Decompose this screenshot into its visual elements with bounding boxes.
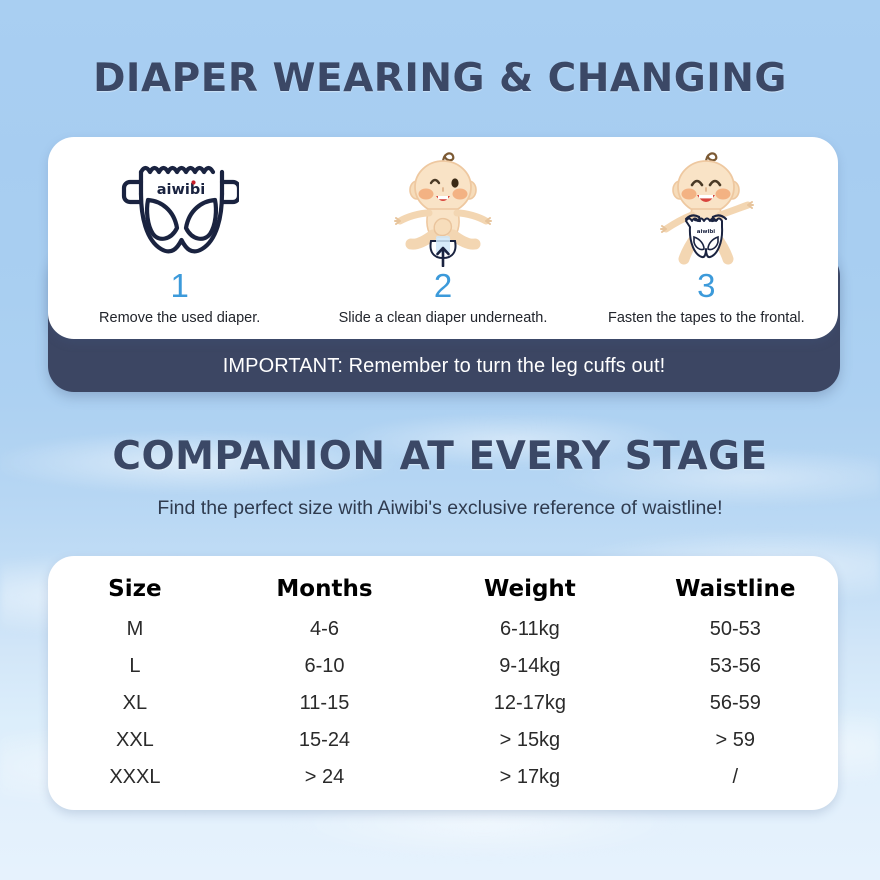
cell-waistline: 56-59 xyxy=(633,685,838,722)
column-header-size: Size xyxy=(48,570,222,611)
steps-card: aiwibi 1 Remove the used diaper. xyxy=(48,137,838,339)
svg-text:aiwibi: aiwibi xyxy=(697,229,716,235)
baby-fasten-tapes-icon: aiwibi xyxy=(575,145,838,267)
cell-weight: 6-11kg xyxy=(427,611,632,648)
column-header-weight: Weight xyxy=(427,570,632,611)
step-1-number: 1 xyxy=(170,269,188,302)
table-row: XXXL > 24 > 17kg / xyxy=(48,759,838,796)
step-1: aiwibi 1 Remove the used diaper. xyxy=(48,137,311,339)
step-3: aiwibi 3 Fasten the tapes to the frontal… xyxy=(575,137,838,339)
table-row: L 6-10 9-14kg 53-56 xyxy=(48,648,838,685)
size-table: Size Months Weight Waistline M 4-6 6-11k… xyxy=(48,570,838,796)
table-row: M 4-6 6-11kg 50-53 xyxy=(48,611,838,648)
cell-months: 6-10 xyxy=(222,648,427,685)
cell-waistline: / xyxy=(633,759,838,796)
step-3-caption: Fasten the tapes to the frontal. xyxy=(608,310,805,326)
cell-weight: 12-17kg xyxy=(427,685,632,722)
table-row: XXL 15-24 > 15kg > 59 xyxy=(48,722,838,759)
baby-slide-diaper-icon xyxy=(311,145,574,267)
important-banner-text: IMPORTANT: Remember to turn the leg cuff… xyxy=(48,355,840,378)
cell-size: M xyxy=(48,611,222,648)
cell-size: L xyxy=(48,648,222,685)
table-header-row: Size Months Weight Waistline xyxy=(48,570,838,611)
page-title: DIAPER WEARING & CHANGING xyxy=(0,56,880,101)
cell-weight: 9-14kg xyxy=(427,648,632,685)
size-table-card: Size Months Weight Waistline M 4-6 6-11k… xyxy=(48,556,838,810)
step-2-caption: Slide a clean diaper underneath. xyxy=(339,310,548,326)
table-row: XL 11-15 12-17kg 56-59 xyxy=(48,685,838,722)
step-2: 2 Slide a clean diaper underneath. xyxy=(311,137,574,339)
page-root: DIAPER WEARING & CHANGING IMPORTANT: Rem… xyxy=(0,0,880,880)
cell-months: > 24 xyxy=(222,759,427,796)
cell-weight: > 17kg xyxy=(427,759,632,796)
step-1-caption: Remove the used diaper. xyxy=(99,310,260,326)
cell-waistline: > 59 xyxy=(633,722,838,759)
cell-size: XL xyxy=(48,685,222,722)
cell-months: 15-24 xyxy=(222,722,427,759)
diaper-outline-icon: aiwibi xyxy=(48,145,311,267)
cell-months: 4-6 xyxy=(222,611,427,648)
step-3-number: 3 xyxy=(697,269,715,302)
svg-text:aiwibi: aiwibi xyxy=(156,182,204,198)
stage-title: COMPANION AT EVERY STAGE xyxy=(0,434,880,479)
cell-size: XXL xyxy=(48,722,222,759)
stage-subtitle: Find the perfect size with Aiwibi's excl… xyxy=(0,497,880,520)
cell-weight: > 15kg xyxy=(427,722,632,759)
cell-waistline: 53-56 xyxy=(633,648,838,685)
column-header-months: Months xyxy=(222,570,427,611)
cell-months: 11-15 xyxy=(222,685,427,722)
cell-waistline: 50-53 xyxy=(633,611,838,648)
column-header-waistline: Waistline xyxy=(633,570,838,611)
cell-size: XXXL xyxy=(48,759,222,796)
step-2-number: 2 xyxy=(434,269,452,302)
